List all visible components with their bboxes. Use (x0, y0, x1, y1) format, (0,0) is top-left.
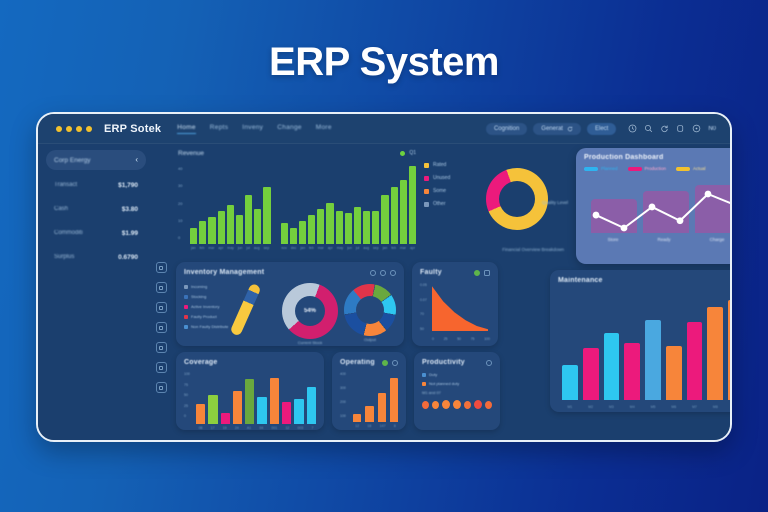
bar[interactable] (221, 413, 230, 424)
toolbar-actions: Cognition Generat Elect (486, 123, 720, 135)
data-dot[interactable] (432, 401, 439, 409)
y-tick: 20 (178, 201, 182, 206)
x-tick: 19 (220, 426, 229, 430)
sidebar-row-transact[interactable]: Transact $1,790 (46, 176, 146, 194)
x-tick: 24 (232, 426, 241, 430)
toolbar-icon-group: N0 (628, 124, 716, 133)
x-tick: M9 (728, 405, 732, 409)
line-marker[interactable] (621, 225, 628, 232)
x-tick: 0 (432, 337, 434, 341)
x-tick: 12 (283, 426, 292, 430)
faulty-area-panel: Faulty 0.05 0.07 70 50 (412, 262, 498, 346)
window-dot[interactable] (76, 126, 82, 132)
donut-ring[interactable] (486, 168, 548, 230)
data-dot[interactable] (422, 401, 429, 409)
legend-label: Q1 (409, 150, 416, 156)
bar[interactable] (290, 228, 297, 244)
panel-title: Faulty (420, 269, 442, 276)
x-tick: M1 (562, 405, 578, 409)
x-tick: Ready (657, 237, 670, 242)
bar[interactable] (409, 166, 416, 244)
bar[interactable] (236, 215, 243, 244)
bar[interactable] (365, 406, 373, 423)
chart-legend: Planned Production Actual (584, 166, 732, 171)
donut-caption: Output (344, 337, 396, 342)
legend-swatch (184, 315, 188, 319)
bar[interactable] (317, 209, 324, 244)
sidebar-header[interactable]: Corp Energy ‹ (46, 150, 146, 170)
legend-item: Other (424, 201, 450, 207)
x-tick: sep (372, 246, 380, 250)
plot-area: Store Ready Charge (584, 176, 732, 242)
legend-swatch (676, 167, 690, 171)
x-axis-ticks: janfebmaraprmayjunjulaugsepnovdecjanfebm… (190, 246, 416, 250)
chart-title: Revenue (178, 150, 418, 157)
y-tick: 100 (184, 372, 190, 376)
bar[interactable] (326, 203, 333, 244)
window-toolbar: ERP Sotek Home Repts Inveny Change More … (38, 114, 730, 144)
x-tick: jan (382, 246, 389, 250)
refresh-icon[interactable] (392, 360, 398, 366)
bar[interactable] (208, 217, 215, 244)
donut-side-label: Quality Level (542, 200, 568, 205)
window-dot[interactable] (56, 126, 62, 132)
page-title: ERP System (0, 40, 768, 85)
bar[interactable] (299, 221, 306, 244)
productivity-sublabel: M1 and 07 (422, 390, 492, 395)
refresh-icon[interactable] (660, 124, 669, 133)
x-tick: 25 (444, 337, 448, 341)
gauge-tube (229, 283, 261, 337)
bar[interactable] (208, 395, 217, 424)
sidebar-row-label: Transact (54, 182, 77, 188)
x-gap (272, 246, 278, 250)
legend-label: Some (433, 188, 446, 194)
x-tick: 17 (208, 426, 217, 430)
stock-donut-wrap: 54% Current Stock (282, 281, 338, 343)
bar[interactable] (381, 195, 388, 244)
cognition-button[interactable]: Cognition (486, 123, 527, 135)
close-icon[interactable] (390, 270, 396, 276)
legend-label: Duty (429, 372, 437, 377)
legend-label: Non Faulty Distribute (191, 324, 228, 329)
x-tick: 08 (196, 426, 205, 430)
line-marker[interactable] (593, 212, 600, 219)
camera-icon[interactable] (156, 302, 167, 313)
x-tick: 003 (295, 426, 306, 430)
coverage-panel: Coverage 100 75 50 25 0 08171924A1040011… (176, 352, 324, 430)
legend-swatch (628, 167, 642, 171)
dashboard-body: Corp Energy ‹ Transact $1,790 Cash $3.80… (38, 144, 730, 442)
panel-title: Productivity (422, 359, 465, 366)
bar[interactable] (227, 205, 234, 244)
fill-gauge[interactable] (239, 281, 276, 343)
elect-button[interactable]: Elect (587, 123, 616, 135)
y-tick: 25 (184, 404, 190, 408)
donut-ring[interactable] (344, 284, 396, 336)
legend-item: Some (424, 188, 450, 194)
sidebar-row-value: $1.99 (122, 230, 138, 237)
sidebar: Corp Energy ‹ Transact $1,790 Cash $3.80… (46, 150, 146, 436)
x-tick: may (336, 246, 345, 250)
bar[interactable] (257, 397, 266, 424)
x-tick: mar (317, 246, 325, 250)
chart-legend: Q1 (400, 150, 416, 156)
x-tick: M7 (687, 405, 703, 409)
legend-label: Other (433, 201, 446, 207)
legend-item: Production (628, 166, 667, 171)
panel-title: Operating (340, 359, 375, 366)
donut-caption: Financial Overview Breakdown (502, 247, 564, 252)
dot-icon[interactable] (474, 270, 480, 276)
x-tick: M3 (604, 405, 620, 409)
chevron-left-icon[interactable]: ‹ (135, 156, 138, 164)
x-tick: jul (245, 246, 250, 250)
legend-swatch (424, 189, 429, 194)
y-axis-ticks: 400 300 200 100 (340, 372, 346, 418)
legend-item: Active Inventory (184, 304, 233, 309)
bar[interactable] (666, 346, 682, 400)
legend-swatch (184, 325, 188, 329)
window-control-dots[interactable] (56, 126, 92, 132)
y-tick: 70 (420, 312, 427, 316)
x-tick: M2 (583, 405, 599, 409)
y-axis-ticks: 40 30 20 10 0 (178, 166, 182, 240)
generate-label: Generat (541, 126, 563, 132)
nav-item-reports[interactable]: Repts (210, 124, 228, 133)
x-tick: feb (308, 246, 315, 250)
bar[interactable] (345, 213, 352, 244)
document-icon[interactable] (156, 382, 167, 393)
operating-panel: Operating 400 300 200 100 12181478 (332, 352, 406, 430)
legend-swatch (184, 285, 188, 289)
x-tick: 75 (471, 337, 475, 341)
line-marker[interactable] (649, 204, 656, 211)
panel-title: Production Dashboard (584, 154, 663, 161)
bar[interactable] (307, 387, 316, 424)
x-tick: aug (362, 246, 370, 250)
legend-swatch (424, 176, 429, 181)
x-tick: dec (290, 246, 298, 250)
legend-swatch (424, 202, 429, 207)
y-tick: 100 (340, 414, 346, 418)
x-tick: Store (608, 237, 619, 242)
data-dot[interactable] (464, 401, 471, 409)
x-tick: 04 (257, 426, 266, 430)
x-tick: apr (327, 246, 334, 250)
history-icon[interactable] (692, 124, 701, 133)
minimize-icon[interactable] (370, 270, 376, 276)
bar[interactable] (218, 211, 225, 244)
sidebar-row-label: Surplus (54, 254, 74, 260)
dashboard-window: ERP Sotek Home Repts Inveny Change More … (36, 112, 732, 442)
bar[interactable] (233, 391, 242, 424)
revenue-bar-chart: Revenue Q1 40 30 20 10 0 janfebmaraprmay… (178, 150, 418, 255)
x-tick: jan (190, 246, 197, 250)
legend-label: Not planned duty (429, 381, 459, 386)
bar[interactable] (645, 320, 661, 400)
bar[interactable] (336, 211, 343, 244)
panel-actions (370, 270, 396, 276)
icon-rail (150, 262, 172, 393)
bar-group: 100 75 50 25 0 (184, 372, 316, 424)
y-tick: 0.07 (420, 298, 427, 302)
dot-series (422, 400, 492, 409)
sidebar-row-label: Commoditi (54, 230, 83, 236)
bar[interactable] (372, 211, 379, 244)
bar[interactable] (400, 180, 407, 244)
sidebar-row-surplus[interactable]: Surplus 0.6790 (46, 248, 146, 266)
maintenance-panel: Maintenance M1M2M3M4M5M6M7M8M9 (550, 270, 732, 412)
y-tick: 75 (184, 383, 190, 387)
x-tick: jan (299, 246, 306, 250)
legend-label: Unused (433, 175, 450, 181)
bar-group: M1M2M3M4M5M6M7M8M9 (558, 292, 732, 400)
legend-label: Faulty Product (191, 314, 217, 319)
x-tick: M4 (624, 405, 640, 409)
legend-item: Non Faulty Distribute (184, 324, 233, 329)
legend-swatch (424, 163, 429, 168)
bar[interactable] (190, 228, 197, 244)
bar[interactable] (363, 211, 370, 244)
x-tick: Charge (710, 237, 725, 242)
y-tick: 30 (178, 183, 182, 188)
y-tick: 0.05 (420, 283, 427, 287)
line-marker[interactable] (705, 191, 712, 198)
bar[interactable] (707, 307, 723, 400)
x-tick: M5 (645, 405, 661, 409)
x-tick: mar (399, 246, 407, 250)
legend-label: Stocking (191, 294, 206, 299)
x-axis-ticks: 08171924A104001120037 (184, 426, 316, 430)
bar[interactable] (308, 215, 315, 244)
status-donut-chart: Rated Unused Some Other Quality Level Fi… (424, 154, 564, 254)
x-axis-ticks: 0 25 50 75 100 (432, 337, 490, 341)
x-tick: nov (280, 246, 288, 250)
y-tick: 0 (178, 235, 182, 240)
x-axis-ticks: M1M2M3M4M5M6M7M8M9 (562, 405, 732, 409)
bar[interactable] (282, 402, 291, 424)
x-tick: feb (199, 246, 206, 250)
legend-item: Planned (584, 166, 618, 171)
x-tick: M6 (666, 405, 682, 409)
legend-label: Planned (601, 166, 618, 171)
download-icon[interactable] (156, 282, 167, 293)
legend-swatch (422, 373, 426, 377)
donut-center-value: 54% (282, 283, 338, 339)
sidebar-row-value: $3.80 (122, 206, 138, 213)
y-tick: 400 (340, 372, 346, 376)
nav-item-home[interactable]: Home (177, 124, 196, 134)
area-series (432, 283, 488, 331)
x-axis-ticks: Store Ready Charge (588, 237, 732, 242)
legend-swatch (584, 167, 598, 171)
bar[interactable] (391, 187, 398, 244)
y-tick: 50 (420, 327, 427, 331)
legend-item: Not planned duty (422, 381, 492, 386)
expand-icon[interactable] (380, 270, 386, 276)
legend-item: Stocking (184, 294, 233, 299)
bar[interactable] (263, 187, 270, 244)
bar[interactable] (353, 414, 361, 422)
bar[interactable] (604, 333, 620, 400)
x-tick: jun (237, 246, 244, 250)
bar[interactable] (378, 393, 386, 422)
sidebar-row-commodities[interactable]: Commoditi $1.99 (46, 224, 146, 242)
inventory-management-panel: Inventory Management Incoming Stocking A… (176, 262, 404, 346)
sidebar-title: Corp Energy (54, 157, 91, 164)
bar[interactable] (390, 378, 398, 422)
x-tick: 8 (392, 424, 398, 428)
nav-item-change[interactable]: Change (277, 124, 302, 133)
donut-ring[interactable]: 54% (282, 283, 338, 339)
y-tick: 50 (184, 393, 190, 397)
clock-icon[interactable] (156, 362, 167, 373)
x-tick: aug (253, 246, 261, 250)
x-tick: 12 (353, 424, 361, 428)
legend-item: Rated (424, 162, 450, 168)
donut-caption: Current Stock (282, 340, 338, 345)
dashboard-icon[interactable] (156, 262, 167, 273)
y-axis-ticks: 0.05 0.07 70 50 (420, 283, 427, 331)
x-tick: apr (409, 246, 416, 250)
x-tick: feb (390, 246, 397, 250)
x-tick: apr (217, 246, 224, 250)
legend-item: Duty (422, 372, 492, 377)
dot-icon[interactable] (382, 360, 388, 366)
legend-item: Unused (424, 175, 450, 181)
bar[interactable] (562, 365, 578, 400)
legend-swatch (184, 305, 188, 309)
x-tick: 7 (309, 426, 316, 430)
legend-label: Incoming (191, 284, 207, 289)
book-icon[interactable] (156, 322, 167, 333)
panel-actions (474, 270, 490, 276)
productivity-panel: Productivity Duty Not planned duty M1 an… (414, 352, 500, 430)
sidebar-row-label: Cash (54, 206, 68, 212)
y-tick: 40 (178, 166, 182, 171)
bar[interactable] (196, 404, 205, 424)
app-background: ERP System ERP Sotek Home Repts Inveny C… (0, 0, 768, 512)
legend-label: Active Inventory (191, 304, 219, 309)
data-dot[interactable] (442, 400, 450, 409)
refresh-icon[interactable] (486, 360, 492, 366)
line-marker[interactable] (677, 217, 684, 224)
bar[interactable] (199, 221, 206, 244)
sidebar-row-cash[interactable]: Cash $3.80 (46, 200, 146, 218)
window-dot[interactable] (66, 126, 72, 132)
x-axis-ticks: 12181478 (340, 424, 398, 428)
legend-swatch (400, 151, 405, 156)
sidebar-row-value: $1,790 (118, 182, 138, 189)
bar[interactable] (245, 379, 254, 424)
production-dashboard-panel: Production Dashboard Planned Production … (576, 148, 732, 264)
clock-icon[interactable] (628, 124, 637, 133)
data-dot[interactable] (453, 400, 461, 409)
output-donut-wrap: Output (344, 281, 396, 343)
inbox-icon[interactable] (156, 342, 167, 353)
chart-legend: Incoming Stocking Active Inventory Fault… (184, 281, 233, 343)
bar[interactable] (624, 343, 640, 400)
x-tick: 001 (269, 426, 280, 430)
expand-icon[interactable] (484, 270, 490, 276)
window-dot[interactable] (86, 126, 92, 132)
data-dot[interactable] (485, 401, 492, 409)
x-tick: may (226, 246, 235, 250)
legend-swatch (422, 382, 426, 386)
legend-swatch (184, 295, 188, 299)
x-tick: jun (346, 246, 353, 250)
bar[interactable] (281, 223, 288, 244)
legend-label: Production (645, 166, 667, 171)
bar[interactable] (354, 207, 361, 244)
trend-line (584, 176, 732, 242)
chart-legend: Rated Unused Some Other (424, 162, 450, 207)
copy-icon[interactable] (676, 124, 685, 133)
chart-legend: Duty Not planned duty (422, 372, 492, 386)
generate-button[interactable]: Generat (533, 123, 581, 135)
x-tick: jul (355, 246, 360, 250)
nav-item-inventory[interactable]: Inveny (242, 124, 263, 133)
x-tick: 18 (365, 424, 373, 428)
y-tick: 0 (184, 414, 190, 418)
panel-title: Coverage (184, 359, 218, 366)
bar[interactable] (728, 300, 732, 400)
app-brand: ERP Sotek (104, 123, 161, 135)
search-icon[interactable] (644, 124, 653, 133)
y-tick: 10 (178, 218, 182, 223)
x-tick: 50 (457, 337, 461, 341)
bar[interactable] (254, 209, 261, 244)
bar[interactable] (245, 195, 252, 244)
data-dot[interactable] (474, 400, 482, 409)
panel-actions (382, 360, 398, 366)
bar[interactable] (583, 348, 599, 400)
y-axis-ticks: 100 75 50 25 0 (184, 372, 190, 418)
legend-item: Actual (676, 166, 706, 171)
x-tick: A1 (244, 426, 253, 430)
main-nav: Home Repts Inveny Change More (177, 124, 332, 134)
legend-item: Faulty Product (184, 314, 233, 319)
panel-title: Inventory Management (184, 269, 264, 276)
nav-item-more[interactable]: More (316, 124, 332, 133)
avatar[interactable]: N0 (708, 126, 716, 132)
x-tick: M8 (707, 405, 723, 409)
bar[interactable] (270, 378, 279, 424)
y-tick: 200 (340, 400, 346, 404)
x-tick: 147 (378, 424, 388, 428)
legend-label: Rated (433, 162, 446, 168)
x-tick: 100 (484, 337, 490, 341)
legend-item: Incoming (184, 284, 233, 289)
plot-area: 0.05 0.07 70 50 0 25 50 75 100 (420, 281, 490, 341)
y-tick: 300 (340, 386, 346, 390)
bar-group (190, 166, 416, 244)
refresh-icon (567, 126, 573, 132)
panel-title: Maintenance (558, 277, 603, 284)
bar-group: 400 300 200 100 (340, 372, 398, 422)
sidebar-row-value: 0.6790 (118, 254, 138, 261)
x-tick: sep (263, 246, 271, 250)
bar[interactable] (687, 322, 703, 400)
x-tick: mar (207, 246, 215, 250)
bar[interactable] (294, 399, 303, 424)
legend-label: Actual (693, 166, 706, 171)
